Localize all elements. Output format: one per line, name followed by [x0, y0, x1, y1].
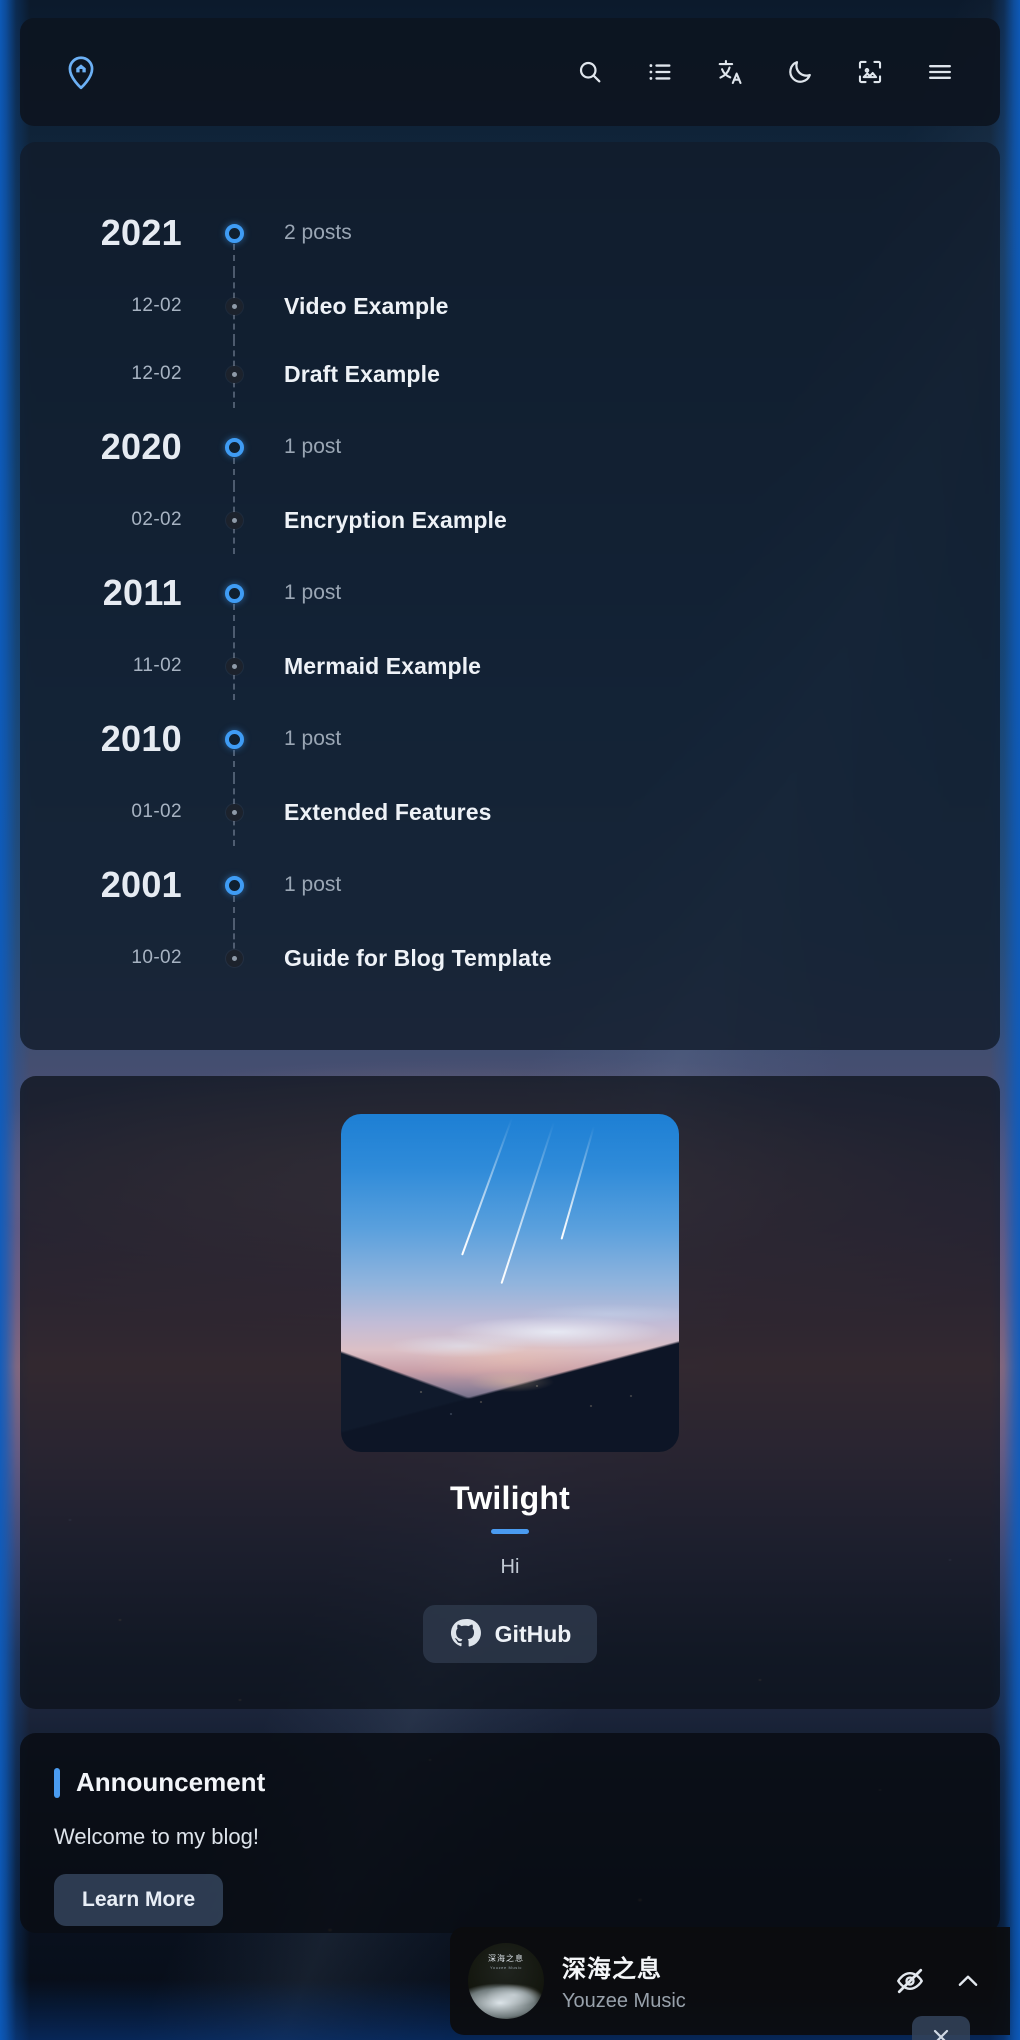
meteor-streak-icon — [501, 1122, 555, 1284]
timeline-post-title[interactable]: Guide for Blog Template — [284, 945, 552, 971]
timeline-title-cell: Encryption Example — [258, 507, 1000, 534]
learn-more-button[interactable]: Learn More — [54, 1874, 223, 1926]
timeline-post-date: 12-02 — [131, 295, 182, 316]
profile-divider — [491, 1529, 529, 1534]
timeline-post-title[interactable]: Mermaid Example — [284, 653, 481, 679]
timeline-year-row: 20011 post — [20, 846, 1000, 924]
timeline-title-cell: Mermaid Example — [258, 653, 1000, 680]
profile-bio: Hi — [501, 1556, 520, 1579]
announcement-header: Announcement — [54, 1767, 966, 1798]
player-artist: Youzee Music — [562, 1990, 872, 2013]
timeline-year-label: 2020 — [101, 426, 182, 467]
timeline-post-title[interactable]: Video Example — [284, 293, 449, 319]
timeline-post-date: 11-02 — [133, 655, 182, 676]
timeline-marker-cell — [210, 272, 258, 340]
timeline-marker-cell — [210, 554, 258, 632]
timeline-post-count: 1 post — [284, 727, 341, 750]
timeline-year-marker — [225, 584, 244, 603]
timeline-year-cell: 2020 — [20, 426, 210, 468]
home-location-pin-icon[interactable] — [60, 51, 102, 93]
translate-icon[interactable] — [712, 54, 748, 90]
timeline-year-cell: 2001 — [20, 864, 210, 906]
timeline-year-marker — [225, 876, 244, 895]
timeline-post-date: 02-02 — [131, 509, 182, 530]
avatar[interactable] — [341, 1114, 679, 1452]
timeline-title-cell: Video Example — [258, 293, 1000, 320]
meteor-streak-icon — [461, 1118, 513, 1256]
timeline-title-cell: Draft Example — [258, 361, 1000, 388]
timeline-post-date: 12-02 — [131, 363, 182, 384]
timeline-post-row[interactable]: 11-02Mermaid Example — [20, 632, 1000, 700]
timeline-count-cell: 1 post — [258, 727, 1000, 751]
timeline-year-row: 20101 post — [20, 700, 1000, 778]
timeline-year-row: 20212 posts — [20, 194, 1000, 272]
timeline-post-marker — [226, 298, 243, 315]
timeline-marker-cell — [210, 846, 258, 924]
timeline-post-row[interactable]: 10-02Guide for Blog Template — [20, 924, 1000, 992]
timeline-marker-cell — [210, 408, 258, 486]
album-art[interactable]: 深海之息 Youzee Music — [468, 1943, 544, 2019]
timeline-date-cell: 12-02 — [20, 363, 210, 385]
timeline-post-count: 1 post — [284, 873, 341, 896]
timeline-year-row: 20201 post — [20, 408, 1000, 486]
timeline-count-cell: 1 post — [258, 581, 1000, 605]
timeline-year-cell: 2021 — [20, 212, 210, 254]
timeline-year-cell: 2010 — [20, 718, 210, 760]
timeline-post-row[interactable]: 02-02Encryption Example — [20, 486, 1000, 554]
github-icon — [449, 1617, 481, 1652]
timeline-post-marker — [226, 950, 243, 967]
github-button-label: GitHub — [495, 1621, 572, 1648]
timeline-year-label: 2001 — [101, 864, 182, 905]
timeline-year-marker — [225, 730, 244, 749]
timeline-date-cell: 12-02 — [20, 295, 210, 317]
profile-name: Twilight — [450, 1480, 570, 1517]
timeline-post-title[interactable]: Encryption Example — [284, 507, 507, 533]
timeline-year-cell: 2011 — [20, 572, 210, 614]
timeline-count-cell: 1 post — [258, 873, 1000, 897]
timeline-year-label: 2010 — [101, 718, 182, 759]
timeline-post-marker — [226, 658, 243, 675]
timeline-marker-cell — [210, 194, 258, 272]
profile-card: Twilight Hi GitHub — [20, 1076, 1000, 1709]
timeline-year-row: 20111 post — [20, 554, 1000, 632]
timeline-post-title[interactable]: Extended Features — [284, 799, 492, 825]
timeline-post-row[interactable]: 12-02Video Example — [20, 272, 1000, 340]
timeline-count-cell: 2 posts — [258, 221, 1000, 245]
close-button[interactable] — [912, 2016, 970, 2040]
search-icon[interactable] — [572, 54, 608, 90]
archive-timeline-card: 20212 posts12-02Video Example12-02Draft … — [20, 142, 1000, 1050]
timeline-post-row[interactable]: 01-02Extended Features — [20, 778, 1000, 846]
toc-list-icon[interactable] — [642, 54, 678, 90]
timeline-list: 20212 posts12-02Video Example12-02Draft … — [20, 194, 1000, 992]
eye-slash-icon[interactable] — [890, 1961, 930, 2001]
timeline-post-count: 1 post — [284, 581, 341, 604]
timeline-year-marker — [225, 224, 244, 243]
chevron-up-icon[interactable] — [948, 1961, 988, 2001]
album-art-subtitle: Youzee Music — [468, 1965, 544, 1970]
timeline-post-title[interactable]: Draft Example — [284, 361, 440, 387]
timeline-date-cell: 01-02 — [20, 801, 210, 823]
announcement-accent-bar — [54, 1768, 60, 1798]
timeline-date-cell: 10-02 — [20, 947, 210, 969]
timeline-post-marker — [226, 512, 243, 529]
timeline-year-label: 2011 — [103, 572, 182, 613]
timeline-post-marker — [226, 804, 243, 821]
player-track-meta: 深海之息 Youzee Music — [562, 1949, 872, 2013]
timeline-year-label: 2021 — [101, 212, 182, 253]
announcement-title: Announcement — [76, 1767, 265, 1798]
timeline-marker-cell — [210, 486, 258, 554]
timeline-post-count: 1 post — [284, 435, 341, 458]
timeline-title-cell: Guide for Blog Template — [258, 945, 1000, 972]
image-frame-icon[interactable] — [852, 54, 888, 90]
timeline-date-cell: 11-02 — [20, 655, 210, 677]
meteor-streak-icon — [561, 1126, 595, 1240]
timeline-year-marker — [225, 438, 244, 457]
album-art-title: 深海之息 — [468, 1953, 544, 1964]
announcement-body: Welcome to my blog! — [54, 1824, 966, 1850]
github-button[interactable]: GitHub — [423, 1605, 598, 1663]
site-header — [20, 18, 1000, 126]
moon-icon[interactable] — [782, 54, 818, 90]
timeline-marker-cell — [210, 700, 258, 778]
timeline-marker-cell — [210, 632, 258, 700]
timeline-date-cell: 02-02 — [20, 509, 210, 531]
timeline-marker-cell — [210, 924, 258, 992]
timeline-title-cell: Extended Features — [258, 799, 1000, 826]
timeline-post-date: 10-02 — [131, 947, 182, 968]
timeline-post-date: 01-02 — [131, 801, 182, 822]
timeline-post-count: 2 posts — [284, 221, 352, 244]
timeline-count-cell: 1 post — [258, 435, 1000, 459]
header-nav-icons — [572, 54, 958, 90]
timeline-marker-cell — [210, 778, 258, 846]
timeline-marker-cell — [210, 340, 258, 408]
timeline-post-row[interactable]: 12-02Draft Example — [20, 340, 1000, 408]
hamburger-menu-icon[interactable] — [922, 54, 958, 90]
announcement-card: Announcement Welcome to my blog! Learn M… — [20, 1733, 1000, 1933]
player-song-title: 深海之息 — [562, 1949, 872, 1984]
timeline-post-marker — [226, 366, 243, 383]
close-icon — [929, 2025, 953, 2040]
